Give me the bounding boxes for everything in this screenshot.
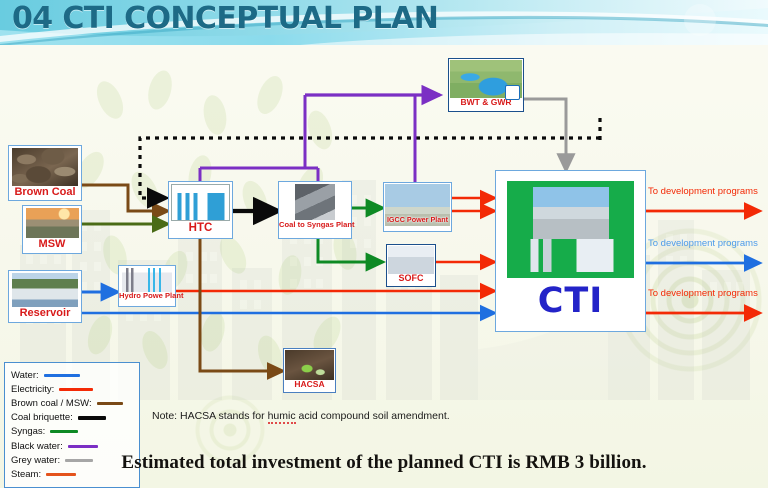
legend-item: Coal briquette:: [11, 411, 139, 425]
municipal-solid-waste-photo: [26, 208, 79, 238]
syngas-plant-photo: [295, 184, 335, 220]
investment-caption: Estimated total investment of the planne…: [0, 452, 768, 474]
node-label: MSW: [23, 239, 81, 251]
node-label: Hydro Powe Plant: [119, 292, 175, 300]
refinery-towers-photo: [527, 239, 617, 272]
output-label-3: To development programs: [648, 288, 758, 299]
industrial-complex-photo: [533, 187, 609, 239]
slide-canvas: 04 CTI CONCEPTUAL PLAN: [0, 0, 768, 488]
node-label: HACSA: [284, 380, 335, 389]
node-label: Reservoir: [9, 308, 81, 320]
fuel-cell-building-photo: [388, 246, 434, 274]
legend-label: Coal briquette:: [11, 412, 73, 423]
legend-label: Electricity:: [11, 384, 54, 395]
legend-item: Electricity:: [11, 382, 139, 396]
node-label: Brown Coal: [9, 187, 81, 199]
hydro-plant-icon: [122, 268, 172, 292]
node-hacsa[interactable]: HACSA: [283, 348, 336, 393]
page-title: 04 CTI CONCEPTUAL PLAN: [12, 1, 438, 36]
legend-label: Brown coal / MSW:: [11, 398, 92, 409]
legend-swatch-black-water: [68, 445, 98, 448]
legend-item: Brown coal / MSW:: [11, 396, 139, 410]
legend-label: Syngas:: [11, 426, 45, 437]
htc-plant-icon: [171, 184, 230, 221]
node-igcc-power-plant[interactable]: IGCC Power Plant: [383, 182, 452, 232]
node-brown-coal[interactable]: Brown Coal: [8, 145, 82, 201]
legend-item: Black water:: [11, 439, 139, 453]
node-cti[interactable]: CTI: [495, 170, 646, 332]
legend-swatch-coal-briquette: [78, 416, 106, 420]
node-label: CTI: [496, 281, 645, 321]
node-bwt-gwr[interactable]: BWT & GWR: [448, 58, 524, 112]
hacsa-note: Note: HACSA stands for humic acid compou…: [152, 410, 450, 422]
node-label: Coal to Syngas Plant: [279, 221, 351, 229]
output-label-1: To development programs: [648, 186, 758, 197]
legend-item: Water:: [11, 368, 139, 382]
node-coal-to-syngas-plant[interactable]: Coal to Syngas Plant: [278, 181, 352, 239]
node-htc[interactable]: HTC: [168, 181, 233, 239]
note-suffix: acid compound soil amendment.: [296, 410, 450, 422]
node-label: HTC: [169, 222, 232, 234]
legend-swatch-water: [44, 374, 80, 377]
node-hydro-power-plant[interactable]: Hydro Powe Plant: [118, 265, 176, 307]
node-label: IGCC Power Plant: [384, 216, 451, 224]
note-prefix: Note: HACSA stands for: [152, 410, 268, 422]
node-msw[interactable]: MSW: [22, 205, 82, 254]
node-sofc[interactable]: SOFC: [386, 244, 436, 287]
legend-swatch-electricity: [59, 388, 93, 391]
legend-label: Black water:: [11, 441, 63, 452]
node-reservoir[interactable]: Reservoir: [8, 270, 82, 323]
legend-swatch-syngas: [50, 430, 78, 433]
dam-reservoir-photo: [12, 273, 78, 307]
output-label-2: To development programs: [648, 238, 758, 249]
legend-item: Syngas:: [11, 425, 139, 439]
coal-pile-photo: [12, 148, 78, 186]
legend-label: Water:: [11, 370, 39, 381]
seedling-soil-photo: [285, 350, 334, 380]
node-label: SOFC: [387, 274, 435, 283]
cti-green-panel: [507, 181, 634, 278]
recycle-badge-icon: [505, 85, 520, 100]
note-spellchecked-word: humic: [268, 410, 296, 424]
legend-swatch-brown-coal-msw: [97, 402, 123, 405]
